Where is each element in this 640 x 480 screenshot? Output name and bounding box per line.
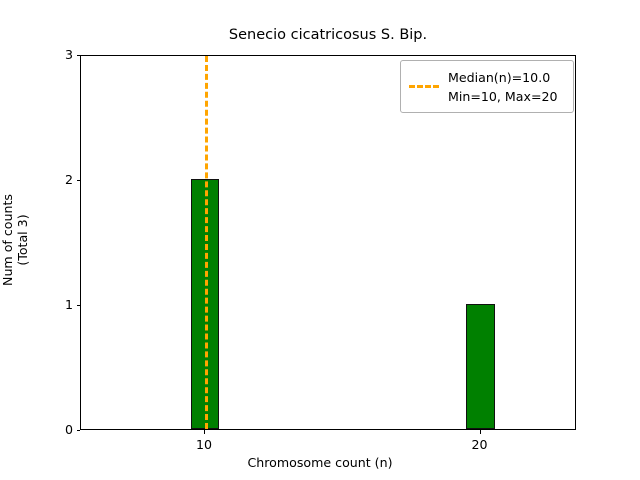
x-tick-10 — [204, 430, 205, 434]
chart-legend: Median(n)=10.0 Min=10, Max=20 — [400, 60, 574, 113]
legend-texts: Median(n)=10.0 Min=10, Max=20 — [448, 67, 565, 105]
y-axis-label: Num of counts (Total 3) — [0, 0, 30, 480]
y-tick-label-2: 2 — [65, 172, 73, 187]
x-tick-label-10: 10 — [196, 437, 212, 452]
y-tick-2 — [77, 180, 81, 181]
y-tick-1 — [77, 305, 81, 306]
median-line — [205, 56, 208, 429]
y-tick-label-3: 3 — [65, 47, 73, 62]
median-line-swatch-icon — [409, 85, 439, 88]
y-tick-label-0: 0 — [65, 422, 73, 437]
x-axis-label: Chromosome count (n) — [0, 455, 640, 470]
bar-20 — [466, 304, 495, 429]
x-tick-20 — [480, 430, 481, 434]
y-axis-label-line1: Num of counts — [0, 194, 15, 286]
legend-row: Median(n)=10.0 Min=10, Max=20 — [409, 67, 565, 105]
y-tick-0 — [77, 430, 81, 431]
chart-title: Senecio cicatricosus S. Bip. — [80, 27, 576, 43]
legend-entry-median: Median(n)=10.0 — [448, 70, 550, 85]
y-axis-label-line2: (Total 3) — [15, 0, 30, 480]
legend-entry-minmax: Min=10, Max=20 — [448, 89, 558, 104]
matplotlib-figure: Senecio cicatricosus S. Bip. Num of coun… — [0, 0, 640, 480]
x-tick-label-20: 20 — [472, 437, 488, 452]
y-tick-3 — [77, 55, 81, 56]
y-axis-label-wrapper: Num of counts (Total 3) — [0, 0, 34, 480]
y-tick-label-1: 1 — [65, 297, 73, 312]
